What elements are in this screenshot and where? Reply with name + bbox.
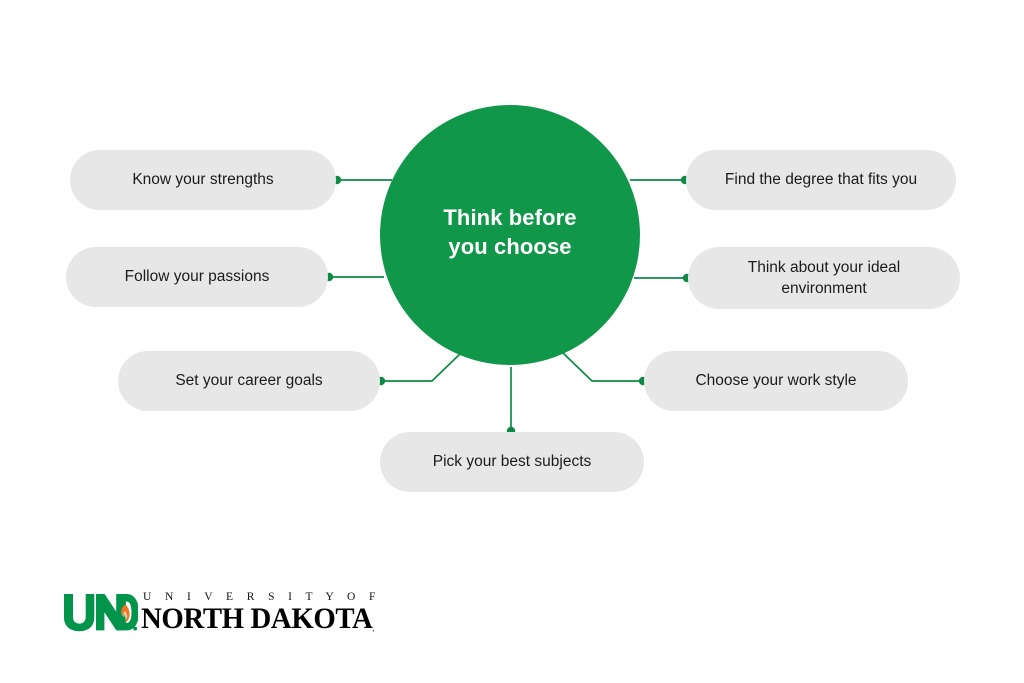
node-label: Know your strengths (132, 169, 273, 190)
connector-set-your-career-goals (381, 352, 462, 381)
und-logo: U N I V E R S I T Y O F NORTH DAKOTA. (62, 586, 384, 634)
node-label: Pick your best subjects (433, 451, 592, 472)
node-think-about-ideal-environment[interactable]: Think about your ideal environment (688, 247, 960, 309)
logo-state-line: NORTH DAKOTA. (141, 605, 374, 633)
und-monogram-icon (62, 588, 138, 634)
connector-choose-your-work-style (562, 352, 643, 381)
node-pick-your-best-subjects[interactable]: Pick your best subjects (380, 432, 644, 492)
node-choose-your-work-style[interactable]: Choose your work style (644, 351, 908, 411)
logo-registered-mark: . (372, 625, 374, 634)
node-find-the-degree-that-fits-you[interactable]: Find the degree that fits you (686, 150, 956, 210)
und-wordmark: U N I V E R S I T Y O F NORTH DAKOTA. (141, 592, 384, 633)
node-label: Choose your work style (695, 370, 856, 391)
node-label: Follow your passions (125, 266, 270, 287)
infographic-canvas: Think before you choose Know your streng… (0, 0, 1024, 683)
node-label: Find the degree that fits you (725, 169, 917, 190)
node-follow-your-passions[interactable]: Follow your passions (66, 247, 328, 307)
central-hub: Think before you choose (380, 105, 640, 365)
node-know-your-strengths[interactable]: Know your strengths (70, 150, 336, 210)
node-label: Think about your ideal environment (748, 257, 901, 300)
logo-state-text: NORTH DAKOTA (141, 602, 372, 635)
node-set-your-career-goals[interactable]: Set your career goals (118, 351, 380, 411)
central-hub-label: Think before you choose (443, 203, 576, 261)
node-label: Set your career goals (175, 370, 322, 391)
